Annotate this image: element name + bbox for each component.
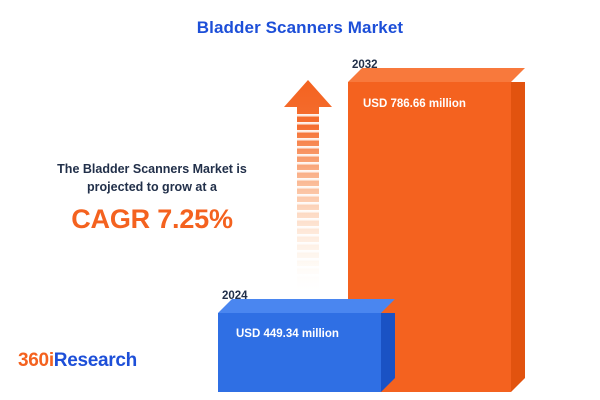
bar-label-year-2024: 2024 — [222, 290, 248, 302]
logo-360: 360 — [18, 350, 49, 371]
bar-2024-front-face — [218, 313, 381, 392]
page-title: Bladder Scanners Market — [0, 18, 600, 38]
logo-research: Research — [54, 350, 137, 371]
brand-logo: 360iResearch — [18, 350, 137, 372]
chart-canvas: Bladder Scanners Market The Bladder Scan… — [0, 0, 600, 400]
bar-label-year-2032: 2032 — [352, 59, 378, 71]
bar-label-value-2032: USD 786.66 million — [363, 98, 466, 110]
callout-line-2: projected to grow at a — [22, 178, 282, 196]
callout-line-1: The Bladder Scanners Market is — [22, 160, 282, 178]
callout-block: The Bladder Scanners Market is projected… — [22, 160, 282, 235]
bar-2024-side-face — [381, 313, 395, 392]
cagr-value: CAGR 7.25% — [22, 204, 282, 235]
bar-2032-side-face — [511, 82, 525, 392]
bar-label-value-2024: USD 449.34 million — [236, 328, 339, 340]
up-arrow-growth-icon — [283, 80, 333, 295]
